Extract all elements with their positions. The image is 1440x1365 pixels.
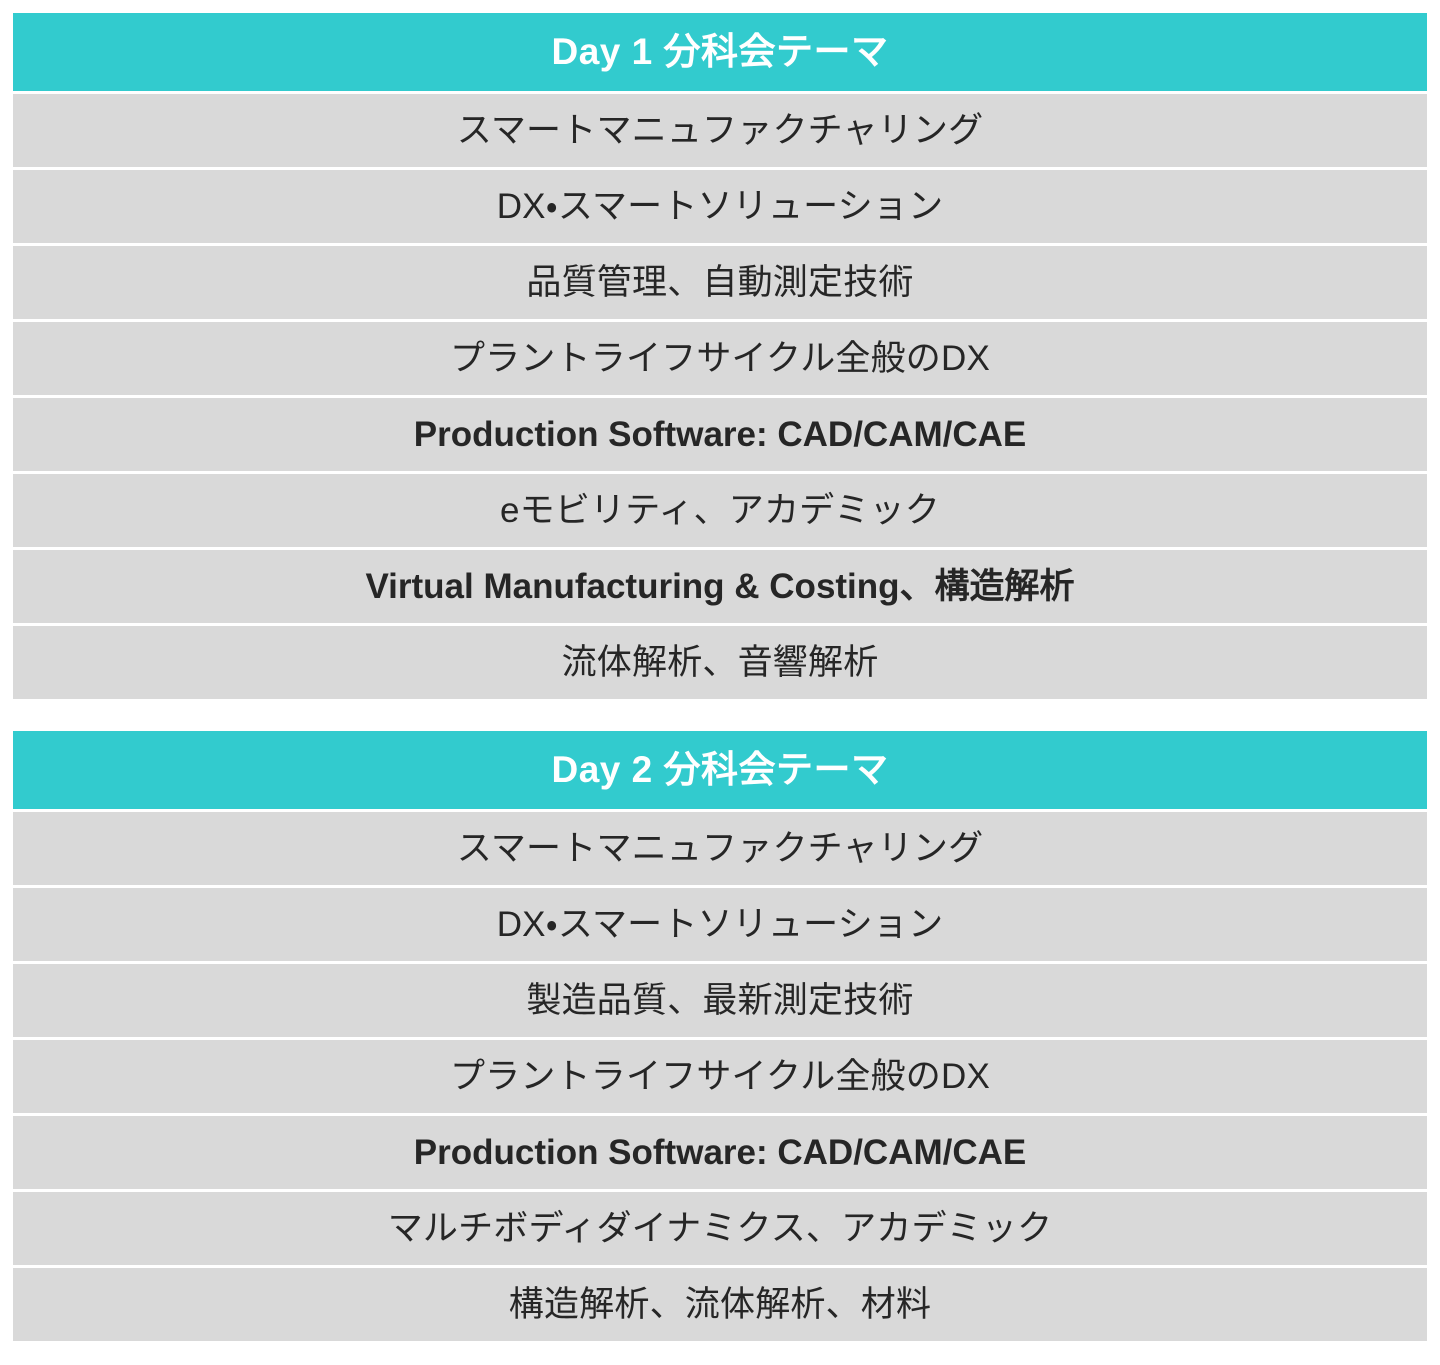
table-row: スマートマニュファクチャリング: [13, 94, 1427, 167]
day2-theme-table: Day 2 分科会テーマ スマートマニュファクチャリング DX・スマートソリュー…: [13, 728, 1427, 1344]
day1-table-body: スマートマニュファクチャリング DX・スマートソリューション 品質管理、自動測定…: [13, 94, 1427, 699]
day2-header-title: Day 2 分科会テーマ: [13, 731, 1427, 809]
day1-theme-7: Virtual Manufacturing & Costing、構造解析: [13, 550, 1427, 623]
day2-header-row: Day 2 分科会テーマ: [13, 731, 1427, 809]
themes-page: Day 1 分科会テーマ スマートマニュファクチャリング DX・スマートソリュー…: [0, 0, 1440, 1365]
table-row: プラントライフサイクル全般のDX: [13, 322, 1427, 395]
day1-theme-1: スマートマニュファクチャリング: [13, 94, 1427, 167]
day2-theme-2: DX・スマートソリューション: [13, 888, 1427, 961]
table-row: プラントライフサイクル全般のDX: [13, 1040, 1427, 1113]
day1-theme-4: プラントライフサイクル全般のDX: [13, 322, 1427, 395]
day1-table-head: Day 1 分科会テーマ: [13, 13, 1427, 91]
day2-table-head: Day 2 分科会テーマ: [13, 731, 1427, 809]
table-row: 製造品質、最新測定技術: [13, 964, 1427, 1037]
day2-theme-3: 製造品質、最新測定技術: [13, 964, 1427, 1037]
table-row: DX・スマートソリューション: [13, 888, 1427, 961]
table-row: スマートマニュファクチャリング: [13, 812, 1427, 885]
table-row: DX・スマートソリューション: [13, 170, 1427, 243]
day1-theme-3: 品質管理、自動測定技術: [13, 246, 1427, 319]
day1-theme-8: 流体解析、音響解析: [13, 626, 1427, 699]
day2-theme-6: マルチボディダイナミクス、アカデミック: [13, 1192, 1427, 1265]
day2-theme-1: スマートマニュファクチャリング: [13, 812, 1427, 885]
day2-theme-5: Production Software: CAD/CAM/CAE: [13, 1116, 1427, 1189]
table-row: Production Software: CAD/CAM/CAE: [13, 398, 1427, 471]
table-row: Virtual Manufacturing & Costing、構造解析: [13, 550, 1427, 623]
day1-header-title: Day 1 分科会テーマ: [13, 13, 1427, 91]
table-row: 構造解析、流体解析、材料: [13, 1268, 1427, 1341]
table-row: マルチボディダイナミクス、アカデミック: [13, 1192, 1427, 1265]
table-row: Production Software: CAD/CAM/CAE: [13, 1116, 1427, 1189]
day1-theme-5: Production Software: CAD/CAM/CAE: [13, 398, 1427, 471]
table-row: 流体解析、音響解析: [13, 626, 1427, 699]
day1-theme-6: eモビリティ、アカデミック: [13, 474, 1427, 547]
day1-theme-table: Day 1 分科会テーマ スマートマニュファクチャリング DX・スマートソリュー…: [13, 10, 1427, 702]
day2-theme-7: 構造解析、流体解析、材料: [13, 1268, 1427, 1341]
day2-theme-4: プラントライフサイクル全般のDX: [13, 1040, 1427, 1113]
day1-theme-2: DX・スマートソリューション: [13, 170, 1427, 243]
day1-header-row: Day 1 分科会テーマ: [13, 13, 1427, 91]
day2-table-body: スマートマニュファクチャリング DX・スマートソリューション 製造品質、最新測定…: [13, 812, 1427, 1341]
table-row: eモビリティ、アカデミック: [13, 474, 1427, 547]
table-row: 品質管理、自動測定技術: [13, 246, 1427, 319]
